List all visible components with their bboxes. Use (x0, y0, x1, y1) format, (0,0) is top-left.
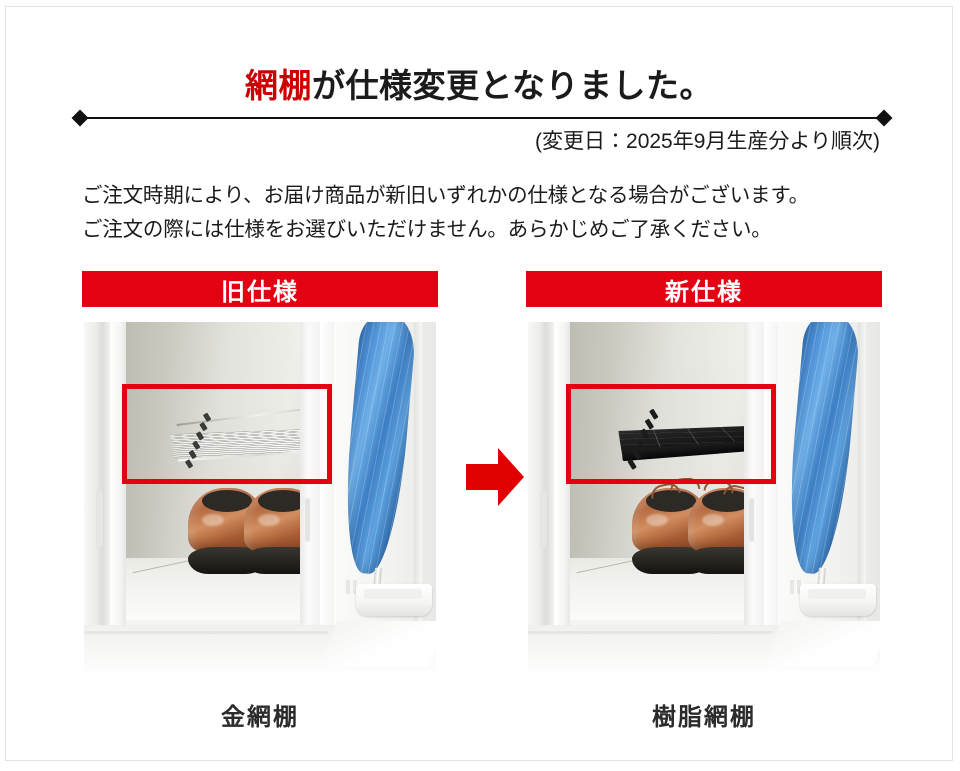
umbrella-bay-old (334, 322, 436, 642)
locker-left-door (84, 322, 110, 632)
right-arrow-icon (464, 445, 526, 509)
title-rest-text: が仕様変更となりました。 (312, 67, 713, 104)
umbrella-clip (346, 580, 350, 594)
umbrella (339, 322, 417, 576)
bay-rail (858, 322, 866, 622)
old-spec-photo (82, 322, 438, 677)
notice-card: 網棚が仕様変更となりました。 (変更日：2025年9月生産分より順次) ご注文時… (5, 6, 953, 761)
notice-body: ご注文時期により、お届け商品が新旧いずれかの仕様となる場合がございます。 ご注文… (82, 179, 894, 247)
page-title: 網棚が仕様変更となりました。 (6, 59, 952, 107)
locker-photo-old (84, 322, 436, 677)
drip-tray (800, 584, 876, 616)
old-shelf-highlight-box (122, 384, 332, 484)
new-shelf-highlight-box (566, 384, 776, 484)
new-spec-caption: 樹脂網棚 (526, 697, 882, 732)
diamond-right-icon (876, 110, 893, 127)
notice-body-line-2: ご注文の際には仕様をお選びいただけません。あらかじめご了承ください。 (82, 213, 894, 247)
divider-line (82, 117, 882, 119)
title-highlight-text: 網棚 (245, 67, 312, 104)
locker-base (528, 625, 880, 677)
bay-rail (414, 322, 422, 622)
new-spec-photo (526, 322, 882, 677)
notice-body-line-1: ご注文時期により、お届け商品が新旧いずれかの仕様となる場合がございます。 (82, 179, 894, 213)
locker-left-door (528, 322, 554, 632)
new-spec-column: 新仕様 (526, 271, 882, 677)
locker-photo-new (528, 322, 880, 677)
umbrella-clip (790, 580, 794, 594)
umbrella (783, 322, 861, 576)
title-divider (74, 111, 890, 125)
old-spec-column: 旧仕様 (82, 271, 438, 677)
old-spec-badge: 旧仕様 (82, 271, 438, 307)
change-date-note: (変更日：2025年9月生産分より順次) (535, 125, 880, 155)
old-spec-caption: 金網棚 (82, 697, 438, 732)
umbrella-bay-new (778, 322, 880, 642)
locker-base (84, 625, 436, 677)
new-spec-badge: 新仕様 (526, 271, 882, 307)
drip-tray (356, 584, 432, 616)
